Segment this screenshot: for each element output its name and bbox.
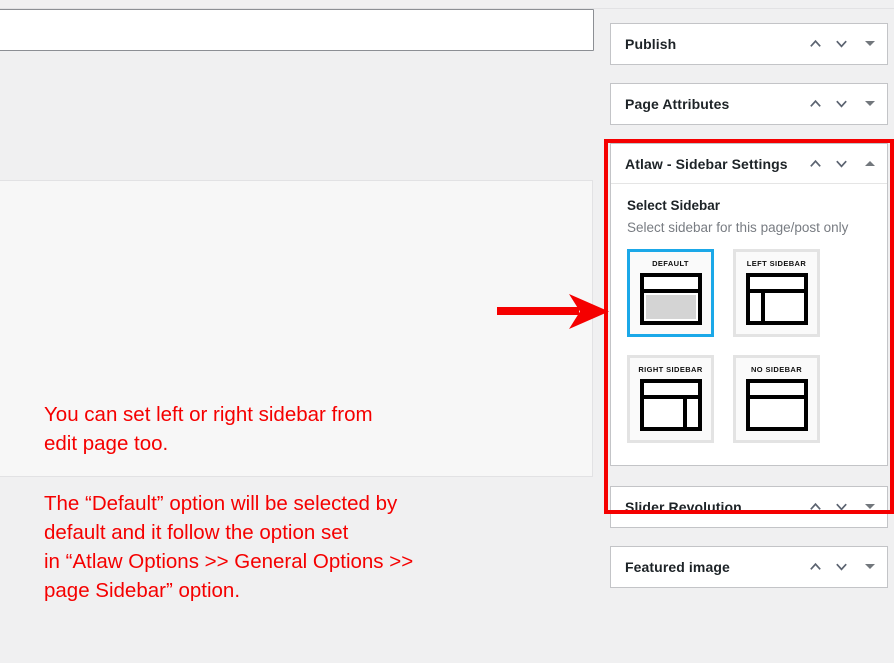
chevron-up-icon[interactable]	[808, 96, 823, 111]
sidebar-option-no-sidebar-label: NO SIDEBAR	[751, 365, 802, 374]
annotation-arrow	[497, 294, 610, 335]
sidebar-layout-options: DEFAULT LEFT SIDEBAR	[627, 249, 871, 443]
panel-publish-header[interactable]: Publish	[611, 24, 887, 64]
annotation-note-2: The “Default” option will be selected by…	[44, 489, 413, 605]
chevron-down-icon[interactable]	[834, 96, 849, 111]
chevron-up-icon[interactable]	[808, 156, 823, 171]
panel-featured-image-controls[interactable]	[808, 559, 875, 574]
chevron-down-icon[interactable]	[834, 156, 849, 171]
layout-preview-default-icon	[640, 273, 702, 325]
panel-page-attributes-header[interactable]: Page Attributes	[611, 84, 887, 124]
sidebar-option-default-label: DEFAULT	[652, 259, 689, 268]
post-title-input[interactable]	[0, 9, 594, 51]
layout-preview-right-sidebar-icon	[640, 379, 702, 431]
panel-publish-controls[interactable]	[808, 36, 875, 51]
editor-column	[0, 9, 594, 51]
panel-publish-title: Publish	[625, 36, 808, 52]
panel-atlaw-sidebar-settings-header[interactable]: Atlaw - Sidebar Settings	[611, 144, 887, 184]
panel-slider-revolution[interactable]: Slider Revolution	[610, 486, 888, 528]
panel-slider-revolution-header[interactable]: Slider Revolution	[611, 487, 887, 527]
chevron-up-icon[interactable]	[808, 499, 823, 514]
sidebar-option-left-sidebar-label: LEFT SIDEBAR	[747, 259, 806, 268]
panel-featured-image-header[interactable]: Featured image	[611, 547, 887, 587]
select-sidebar-label: Select Sidebar	[627, 198, 871, 213]
panel-page-attributes-title: Page Attributes	[625, 96, 808, 112]
chevron-down-icon[interactable]	[834, 36, 849, 51]
page-root: You can set left or right sidebar from e…	[0, 0, 894, 663]
chevron-up-icon[interactable]	[808, 559, 823, 574]
sidebar-settings-body: Select Sidebar Select sidebar for this p…	[611, 184, 887, 465]
layout-preview-left-sidebar-icon	[746, 273, 808, 325]
panel-featured-image[interactable]: Featured image	[610, 546, 888, 588]
triangle-up-icon[interactable]	[865, 161, 875, 166]
select-sidebar-description: Select sidebar for this page/post only	[627, 220, 871, 235]
sidebar-option-right-sidebar[interactable]: RIGHT SIDEBAR	[627, 355, 714, 443]
triangle-down-icon[interactable]	[865, 564, 875, 569]
panel-atlaw-sidebar-settings[interactable]: Atlaw - Sidebar Settings Select Sidebar …	[610, 143, 888, 466]
chevron-up-icon[interactable]	[808, 36, 823, 51]
layout-preview-no-sidebar-icon	[746, 379, 808, 431]
annotation-note-1: You can set left or right sidebar from e…	[44, 400, 373, 458]
sidebar-option-no-sidebar[interactable]: NO SIDEBAR	[733, 355, 820, 443]
panel-publish[interactable]: Publish	[610, 23, 888, 65]
panel-slider-revolution-controls[interactable]	[808, 499, 875, 514]
panel-page-attributes[interactable]: Page Attributes	[610, 83, 888, 125]
triangle-down-icon[interactable]	[865, 41, 875, 46]
sidebar-option-default[interactable]: DEFAULT	[627, 249, 714, 337]
sidebar-option-right-sidebar-label: RIGHT SIDEBAR	[638, 365, 702, 374]
chevron-down-icon[interactable]	[834, 499, 849, 514]
panel-atlaw-sidebar-settings-title: Atlaw - Sidebar Settings	[625, 156, 808, 172]
panel-slider-revolution-title: Slider Revolution	[625, 499, 808, 515]
triangle-down-icon[interactable]	[865, 101, 875, 106]
panel-atlaw-sidebar-settings-controls[interactable]	[808, 156, 875, 171]
chevron-down-icon[interactable]	[834, 559, 849, 574]
triangle-down-icon[interactable]	[865, 504, 875, 509]
sidebar-column: Publish Page Attributes	[610, 0, 894, 606]
panel-featured-image-title: Featured image	[625, 559, 808, 575]
sidebar-option-left-sidebar[interactable]: LEFT SIDEBAR	[733, 249, 820, 337]
panel-page-attributes-controls[interactable]	[808, 96, 875, 111]
